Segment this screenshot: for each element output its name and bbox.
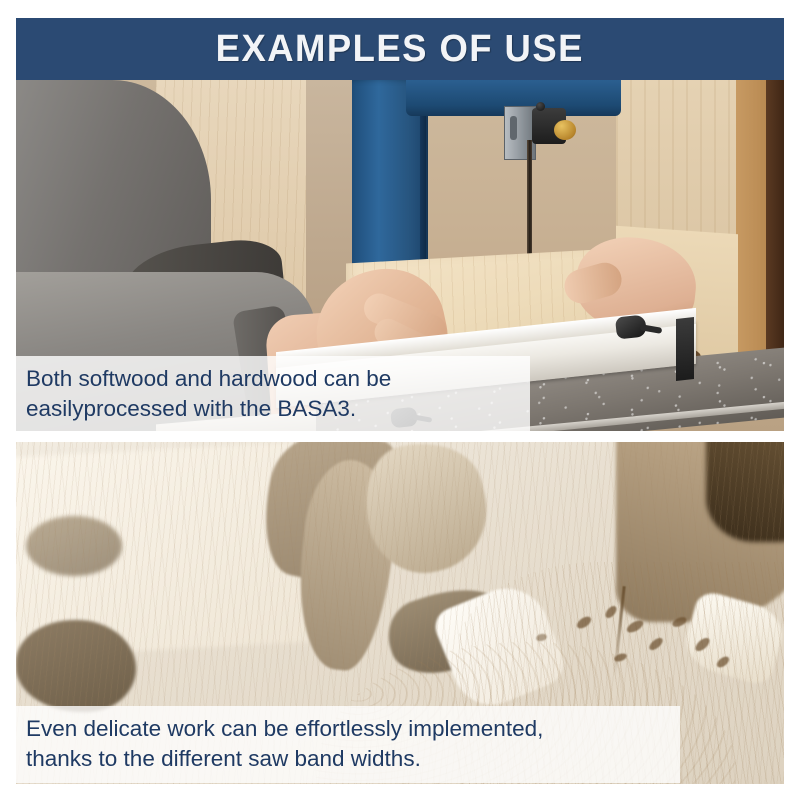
brass-adjustment-knob (554, 120, 576, 140)
caption-photo-bandsaw: Both softwood and hardwood can be easily… (16, 356, 530, 433)
dark-timber-edge (766, 80, 784, 380)
page-title: EXAMPLES OF USE (216, 28, 584, 71)
blade-guide-slot (510, 116, 517, 140)
guide-bolt-icon (536, 102, 545, 111)
pine-board-background-2 (736, 80, 766, 380)
header-banner: EXAMPLES OF USE (16, 18, 784, 80)
examples-of-use-page: EXAMPLES OF USE (0, 0, 800, 800)
rip-fence-end-cap (676, 317, 694, 381)
caption-photo-fretwork: Even delicate work can be effortlessly i… (16, 706, 680, 783)
